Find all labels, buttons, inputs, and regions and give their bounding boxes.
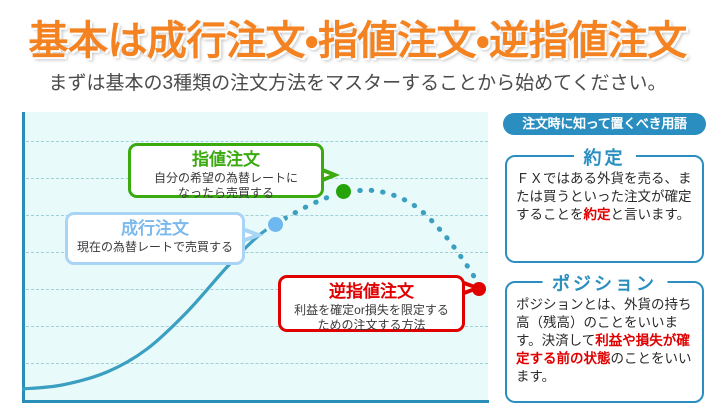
term-text-highlight: 約定 (584, 207, 611, 222)
glossary-term-position-title: ポジション (542, 270, 667, 296)
glossary-header-pill: 注文時に知って置くべき用語 (503, 113, 706, 135)
page-subtitle: まずは基本の3種類の注文方法をマスターすることから始めてください。 (0, 68, 715, 95)
glossary-term-yakujo: 約定 ＦＸではある外貨を売る、または買うといった注文が確定することを約定と言いま… (505, 155, 704, 263)
glossary-term-position: ポジション ポジションとは、外貨の持ち高（残高）のことをいいます。決済して利益や… (505, 281, 704, 403)
callout-stop-line1: 利益を確定or損失を限定する (281, 303, 462, 318)
glossary-term-position-body: ポジションとは、外貨の持ち高（残高）のことをいいます。決済して利益や損失が確定す… (507, 283, 702, 392)
marker-limit-order (336, 184, 351, 199)
callout-limit-line2: なったら売買する (131, 186, 321, 201)
marker-market-order (268, 217, 283, 232)
callout-limit-line1: 自分の希望の為替レートに (131, 171, 321, 186)
infographic-page: 基本は成行注文・指値注文・逆指値注文 まずは基本の3種類の注文方法をマスターする… (0, 0, 715, 410)
callout-stop-line2: ための注文する方法 (281, 318, 462, 333)
glossary-term-yakujo-title: 約定 (574, 144, 636, 170)
callout-stop-title: 逆指値注文 (281, 282, 462, 302)
callout-limit-title: 指値注文 (131, 150, 321, 170)
callout-market-line1: 現在の為替レートで売買する (68, 240, 242, 255)
callout-stop-order: 逆指値注文 利益を確定or損失を限定する ための注文する方法 (278, 275, 465, 332)
callout-market-order: 成行注文 現在の為替レートで売買する (65, 212, 245, 265)
page-title: 基本は成行注文・指値注文・逆指値注文 (0, 8, 715, 66)
callout-market-title: 成行注文 (68, 219, 242, 239)
callout-limit-order: 指値注文 自分の希望の為替レートに なったら売買する (128, 143, 324, 198)
term-text-post: と言います。 (611, 207, 691, 222)
